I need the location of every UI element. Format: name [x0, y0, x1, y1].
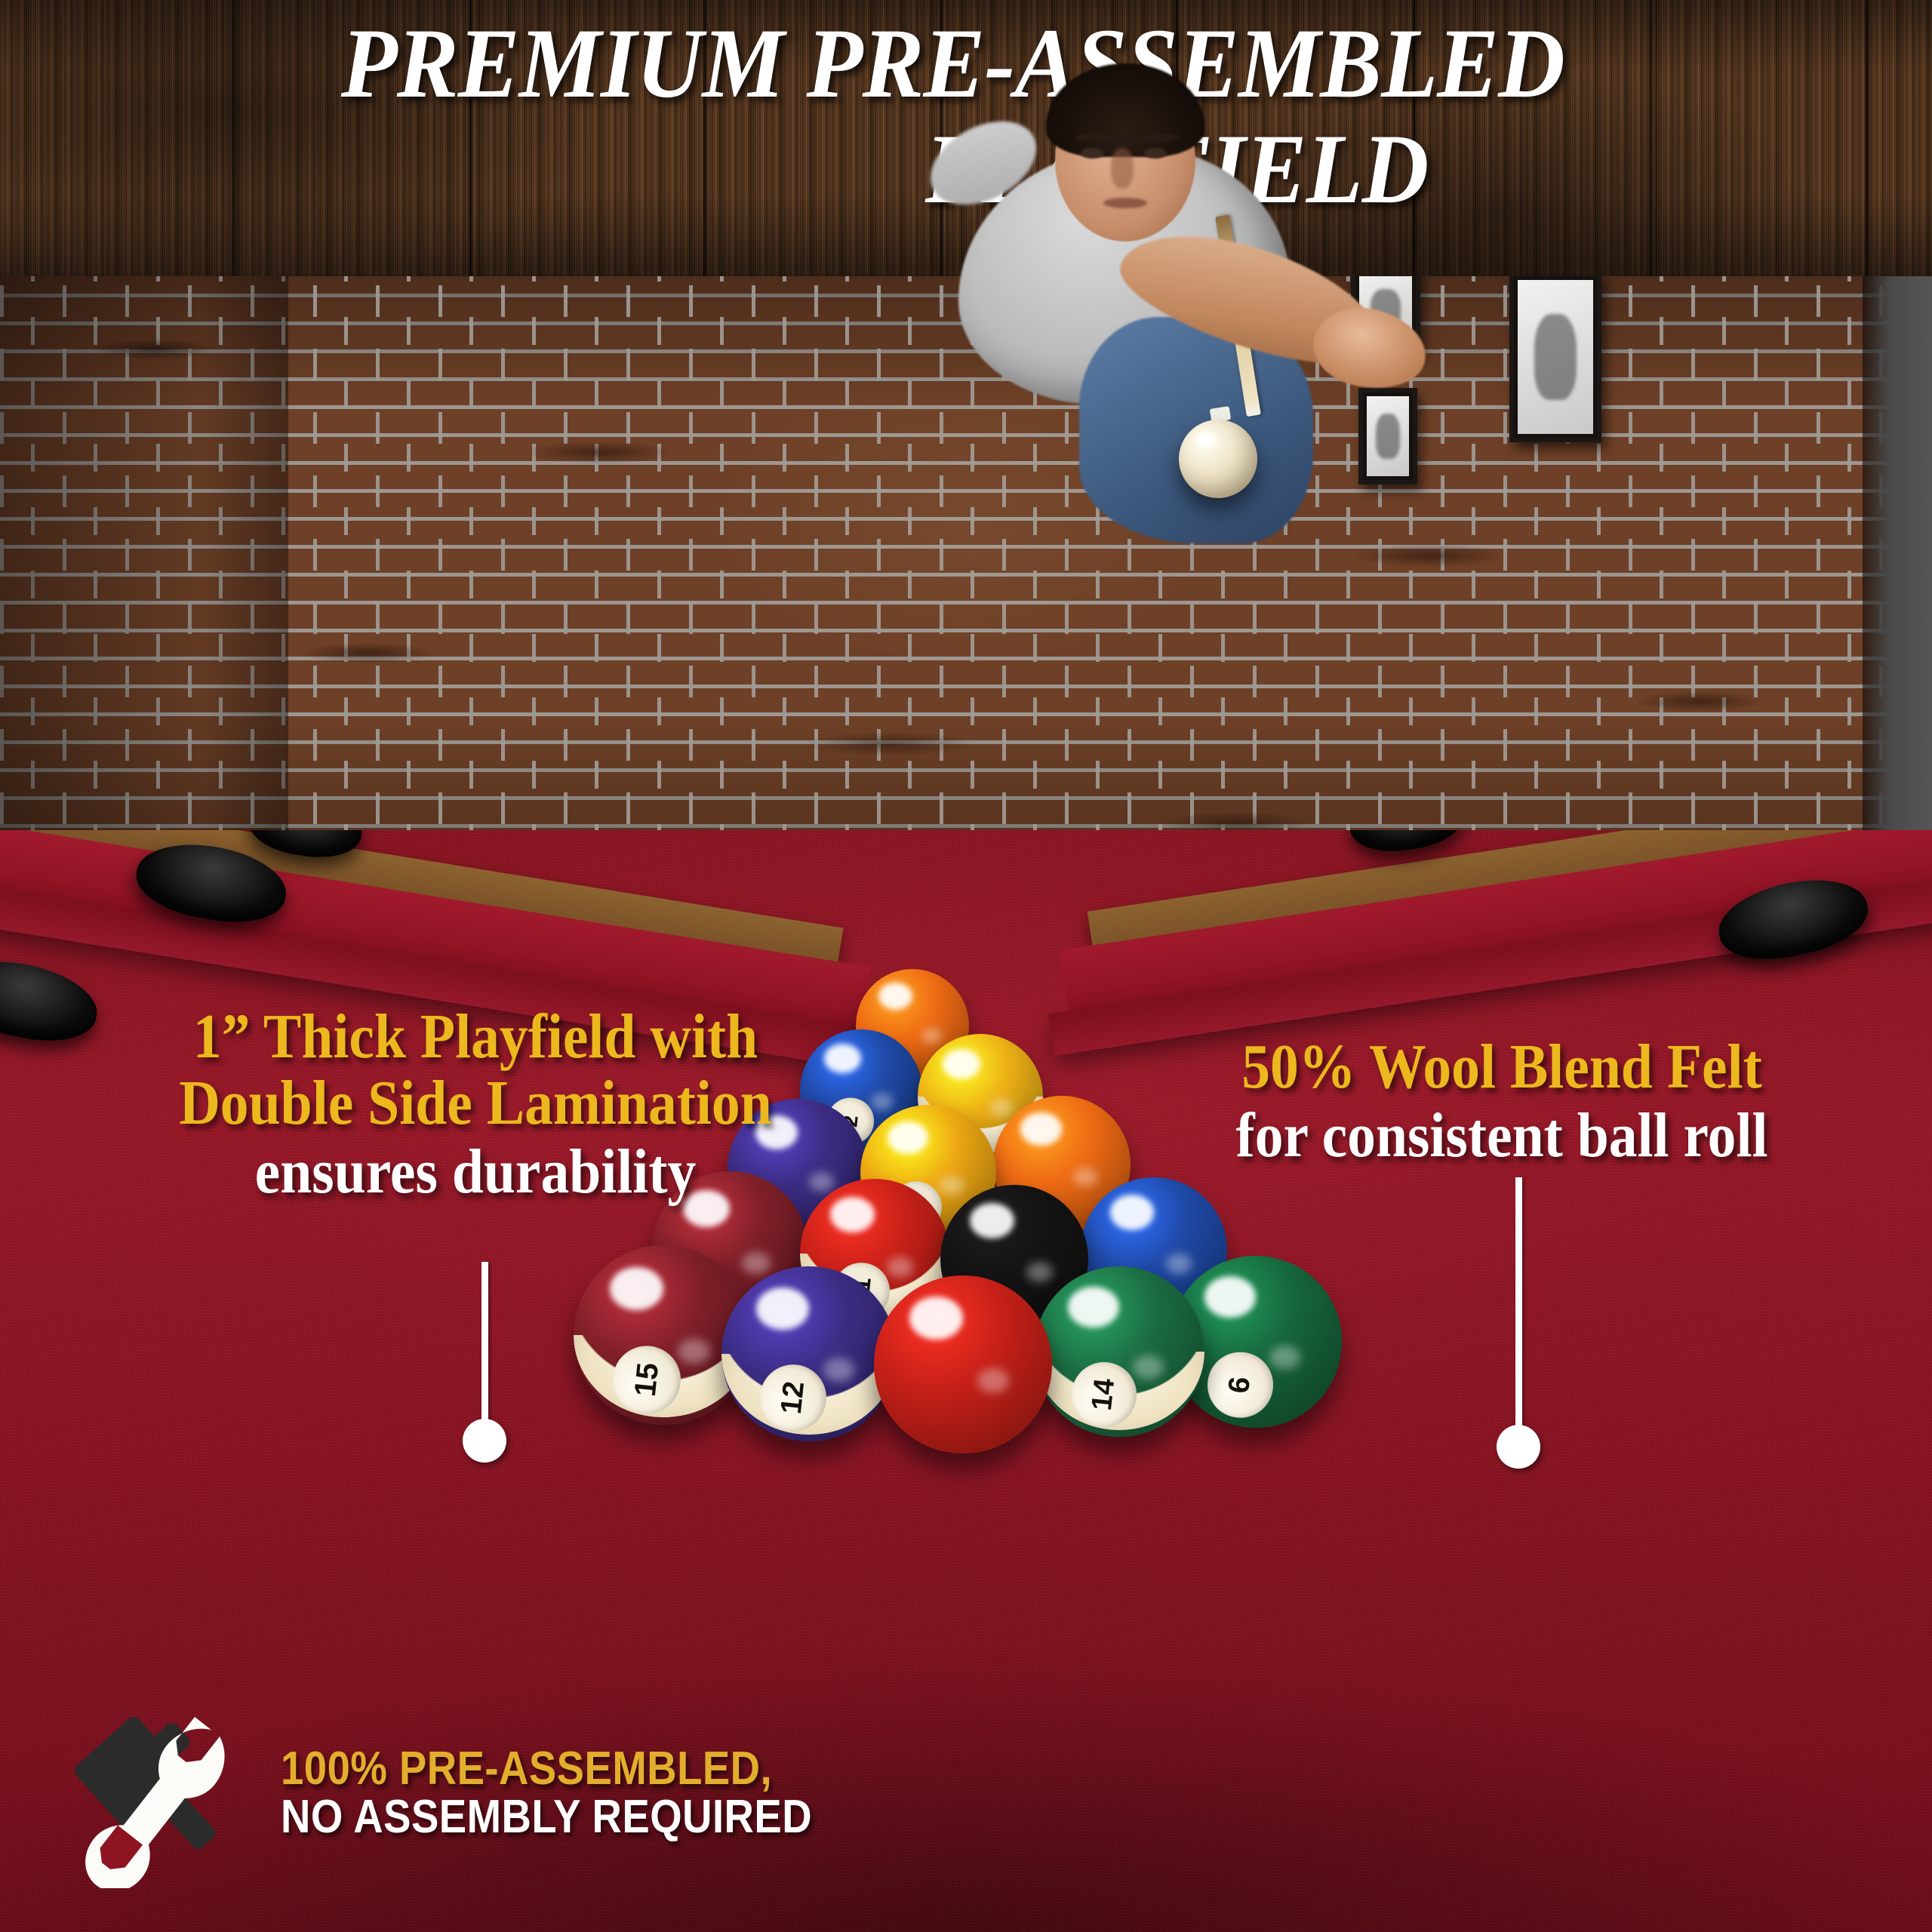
ball-secondary-highlight	[1269, 1346, 1300, 1370]
ball-secondary-highlight	[939, 1176, 963, 1195]
picture-art	[1534, 314, 1577, 400]
plank-seam	[1864, 0, 1869, 276]
leader-stem	[481, 1262, 488, 1422]
callout-felt-leader	[1496, 1177, 1541, 1428]
callout-playfield-white-line: ensures durability	[75, 1137, 876, 1207]
badge-line-2: NO ASSEMBLY REQUIRED	[281, 1792, 812, 1843]
ball-number: 6	[1204, 1349, 1276, 1420]
wall-picture-frame	[1358, 388, 1417, 485]
billiard-ball: 14	[1034, 1266, 1204, 1437]
ball-highlight	[1020, 1112, 1062, 1146]
badge-line-1: 100% PRE-ASSEMBLED,	[281, 1745, 812, 1792]
wrench-and-hammer-icon	[60, 1700, 249, 1888]
ball-secondary-highlight	[742, 1252, 770, 1274]
ball-highlight	[610, 1267, 663, 1310]
ball-secondary-highlight	[678, 1339, 710, 1364]
wall-picture-frame	[1509, 276, 1601, 442]
picture-mat	[1367, 396, 1409, 476]
ball-highlight	[1110, 1195, 1154, 1230]
cue-ball	[1179, 420, 1257, 498]
callout-playfield-leader	[462, 1262, 507, 1422]
leader-dot	[1497, 1425, 1540, 1469]
player-eye	[1144, 148, 1167, 158]
leader-stem	[1515, 1177, 1522, 1428]
wall-corner-left	[0, 276, 288, 884]
ball-highlight	[970, 1203, 1014, 1238]
player-eyebrow	[1138, 133, 1179, 142]
ball-secondary-highlight	[1166, 1254, 1192, 1274]
billiard-ball: 12	[721, 1266, 897, 1441]
pool-player	[891, 0, 1358, 596]
badge-text: 100% PRE-ASSEMBLED, NO ASSEMBLY REQUIRED	[281, 1745, 884, 1843]
billiard-ball	[874, 1275, 1052, 1454]
ball-secondary-highlight	[1026, 1262, 1053, 1282]
callout-playfield-gold-line-2: Double Side Lamination	[75, 1070, 876, 1137]
callout-playfield-gold-line-1: 1” Thick Playfield with	[75, 1004, 876, 1070]
pre-assembled-badge: 100% PRE-ASSEMBLED, NO ASSEMBLY REQUIRED	[60, 1700, 884, 1888]
player-eye	[1081, 148, 1103, 158]
ball-highlight	[756, 1287, 809, 1330]
player-mouth	[1103, 198, 1147, 208]
ball-secondary-highlight	[921, 1028, 942, 1044]
ball-highlight	[909, 1297, 963, 1340]
ball-secondary-highlight	[823, 1358, 855, 1382]
wall-edge-right	[1863, 276, 1932, 884]
callout-felt: 50% Wool Blend Felt for consistent ball …	[1087, 1034, 1917, 1171]
ball-secondary-highlight	[977, 1368, 1009, 1393]
product-feature-graphic: PREMIUM PRE-ASSEMBLED PLAYFIELD	[0, 0, 1932, 1932]
player-nose	[1111, 148, 1134, 189]
ball-secondary-highlight	[1133, 1355, 1164, 1380]
callout-felt-gold-line-1: 50% Wool Blend Felt	[1128, 1034, 1875, 1100]
ball-secondary-highlight	[990, 1099, 1013, 1116]
ball-highlight	[1068, 1287, 1119, 1327]
ball-highlight	[1204, 1276, 1256, 1318]
ball-highlight	[943, 1049, 980, 1079]
callout-felt-white-line: for consistent ball roll	[1128, 1100, 1875, 1171]
picture-art	[1376, 414, 1399, 458]
picture-mat	[1518, 280, 1593, 434]
leader-dot	[463, 1419, 506, 1463]
player-hair	[1046, 63, 1204, 157]
player-eyebrow	[1075, 133, 1115, 142]
ball-secondary-highlight	[887, 1257, 914, 1278]
callout-playfield: 1” Thick Playfield with Double Side Lami…	[30, 1004, 921, 1207]
